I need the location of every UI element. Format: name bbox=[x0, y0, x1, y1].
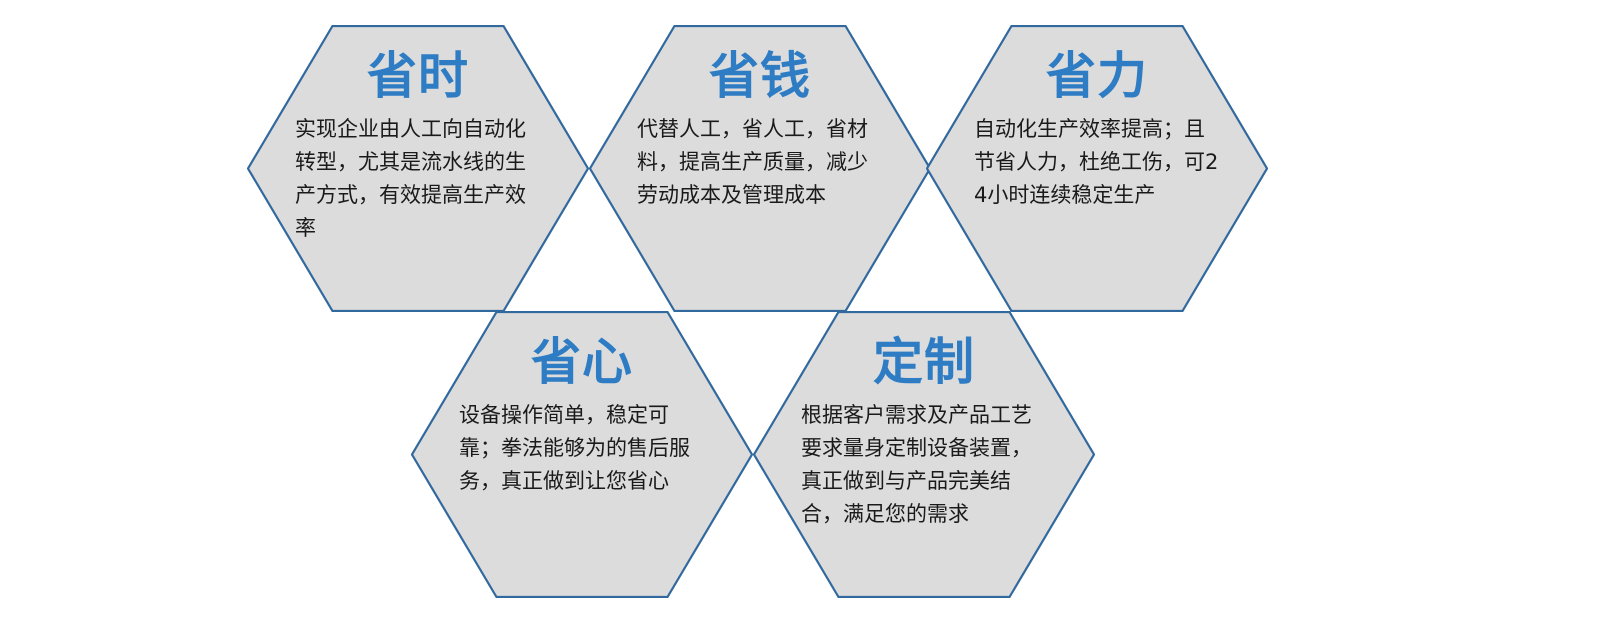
hexagon-body-text: 实现企业由人工向自动化转型，尤其是流水线的生产方式，有效提高生产效率 bbox=[295, 113, 541, 245]
hexagon-card-sheng-qian[interactable]: 省钱 代替人工，省人工，省材料，提高生产质量，减少劳动成本及管理成本 bbox=[589, 25, 931, 312]
hexagon-title: 省钱 bbox=[709, 51, 811, 101]
hexagon-card-ding-zhi[interactable]: 定制 根据客户需求及产品工艺要求量身定制设备装置，真正做到与产品完美结合，满足您… bbox=[753, 311, 1095, 598]
hexagon-title: 定制 bbox=[873, 337, 975, 387]
hexagon-card-sheng-shi[interactable]: 省时 实现企业由人工向自动化转型，尤其是流水线的生产方式，有效提高生产效率 bbox=[247, 25, 589, 312]
hexagon-body-text: 自动化生产效率提高；且节省人力，杜绝工伤，可24小时连续稳定生产 bbox=[974, 113, 1220, 212]
hexagon-body-text: 根据客户需求及产品工艺要求量身定制设备装置，真正做到与产品完美结合，满足您的需求 bbox=[801, 399, 1047, 531]
hexagon-title: 省力 bbox=[1046, 51, 1148, 101]
hexagon-body-text: 代替人工，省人工，省材料，提高生产质量，减少劳动成本及管理成本 bbox=[637, 113, 883, 212]
hexagon-title: 省心 bbox=[531, 337, 633, 387]
hexagon-card-sheng-li[interactable]: 省力 自动化生产效率提高；且节省人力，杜绝工伤，可24小时连续稳定生产 bbox=[926, 25, 1268, 312]
hexagon-title: 省时 bbox=[367, 51, 469, 101]
hexagon-infographic: 省时 实现企业由人工向自动化转型，尤其是流水线的生产方式，有效提高生产效率 省钱… bbox=[0, 0, 1600, 643]
hexagon-body-text: 设备操作简单，稳定可靠；拳法能够为的售后服务，真正做到让您省心 bbox=[459, 399, 705, 498]
hexagon-card-sheng-xin[interactable]: 省心 设备操作简单，稳定可靠；拳法能够为的售后服务，真正做到让您省心 bbox=[411, 311, 753, 598]
